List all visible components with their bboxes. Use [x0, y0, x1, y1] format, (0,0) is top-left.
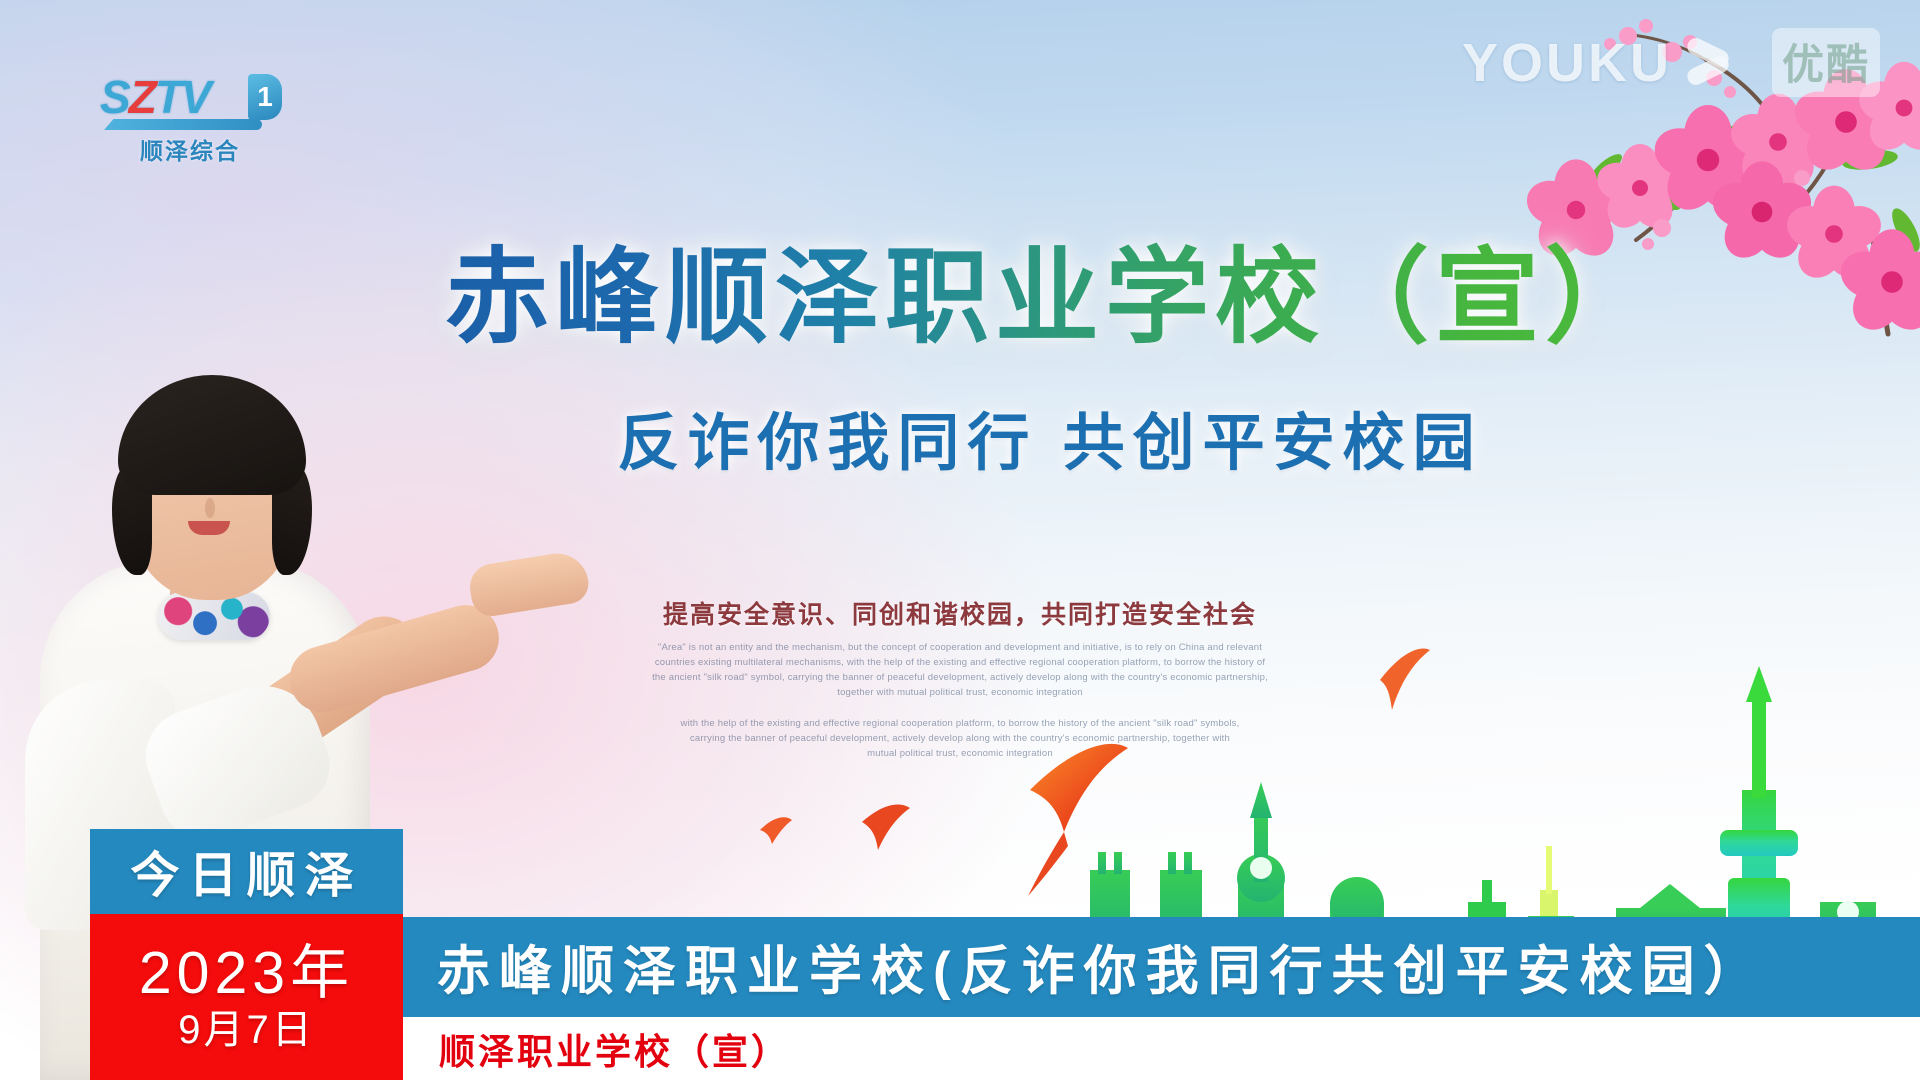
date-bar: 2023年 9月7日	[90, 914, 403, 1080]
channel-logo: SZTV 1 顺泽综合	[100, 72, 280, 166]
program-name-label: 今日顺泽	[130, 836, 362, 907]
headline-label: 赤峰顺泽职业学校(反诈你我同行共创平安校园）	[403, 929, 1766, 1005]
hero-text-block: 赤峰顺泽职业学校（宣） 反诈你我同行 共创平安校园	[430, 240, 1670, 482]
event-subtitle: 反诈你我同行 共创平安校园	[430, 392, 1670, 482]
credit-bar: 顺泽职业学校（宣）	[403, 1017, 1920, 1080]
date-year-label: 2023年	[139, 943, 354, 1005]
youku-cn-label: 优酷	[1782, 41, 1870, 88]
date-day-label: 9月7日	[178, 1005, 315, 1055]
channel-logo-swoosh	[104, 119, 262, 130]
channel-logo-z: Z	[129, 71, 155, 123]
credit-label: 顺泽职业学校（宣）	[403, 1023, 790, 1075]
youku-wordmark: YOUKU	[1462, 32, 1672, 94]
youku-cn-badge: 优酷	[1772, 28, 1880, 97]
channel-logo-subtitle: 顺泽综合	[100, 132, 280, 166]
youku-watermark: YOUKU 优酷	[1462, 28, 1880, 97]
lower-third-left-block: 今日顺泽 2023年 9月7日	[90, 829, 403, 1080]
broadcast-frame: YOUKU 优酷 SZTV 1 顺泽综合 赤	[0, 0, 1920, 1080]
fine-print-block: "Area" is not an entity and the mechanis…	[0, 640, 1920, 761]
play-arrow-icon	[1686, 40, 1758, 86]
fine-print-paragraph-1: "Area" is not an entity and the mechanis…	[650, 640, 1270, 700]
presenter-nose	[205, 498, 215, 518]
fine-print-paragraph-2: with the help of the existing and effect…	[680, 716, 1240, 761]
presenter-hair	[118, 375, 306, 495]
headline-bar: 赤峰顺泽职业学校(反诈你我同行共创平安校园）	[403, 917, 1920, 1017]
channel-number-badge: 1	[248, 74, 282, 120]
safety-slogan: 提高安全意识、同创和谐校园，共同打造安全社会	[0, 595, 1920, 631]
channel-logo-mark: SZTV 1	[100, 72, 280, 130]
event-title: 赤峰顺泽职业学校（宣）	[430, 240, 1670, 356]
program-name-bar: 今日顺泽	[90, 829, 403, 914]
